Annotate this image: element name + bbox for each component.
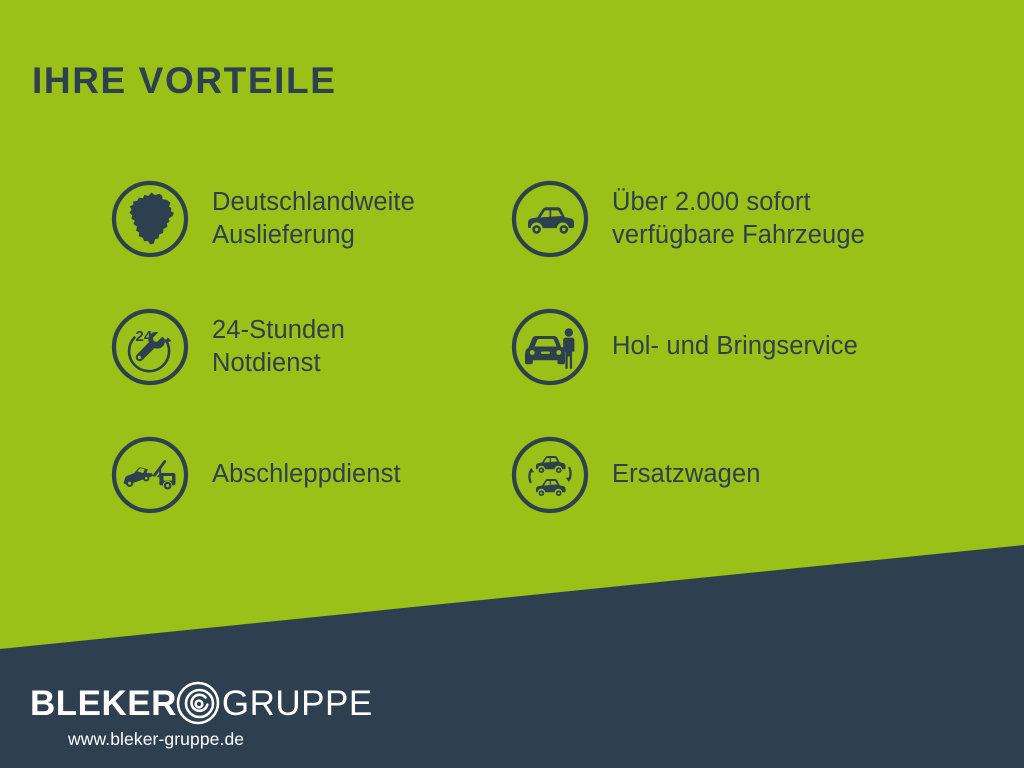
footer-logo: BLEKER GRUPPE www.bleker-gruppe.de — [30, 680, 373, 750]
benefit-item-24-stunden-notdienst: 24 24-Stunden Notdienst — [110, 283, 510, 411]
benefit-item-verfuegbare-fahrzeuge: Über 2.000 sofort verfügbare Fahrzeuge — [510, 155, 930, 283]
24h-wrench-icon: 24 — [110, 307, 190, 387]
slide-root: IHRE VORTEILE Deutschlandweite Ausliefer… — [0, 0, 1024, 768]
benefit-item-ersatzwagen: Ersatzwagen — [510, 411, 930, 539]
footer-website-url: www.bleker-gruppe.de — [68, 729, 373, 750]
benefit-label: Ersatzwagen — [612, 458, 761, 491]
page-title: IHRE VORTEILE — [32, 62, 337, 99]
tow-truck-icon — [110, 435, 190, 515]
two-cars-cycle-icon — [510, 435, 590, 515]
logo-row: BLEKER GRUPPE — [30, 680, 373, 726]
benefit-item-abschleppdienst: Abschleppdienst — [110, 411, 510, 539]
benefits-grid: Deutschlandweite Auslieferung Über 2.000… — [110, 155, 970, 539]
car-with-person-icon — [510, 307, 590, 387]
germany-map-icon — [110, 179, 190, 259]
car-side-icon — [510, 179, 590, 259]
benefit-label: Hol- und Bringservice — [612, 330, 858, 363]
spiral-circle-logo — [175, 680, 221, 726]
benefit-label: 24-Stunden Notdienst — [212, 314, 345, 380]
benefit-label: Über 2.000 sofort verfügbare Fahrzeuge — [612, 186, 865, 252]
benefit-item-hol-und-bringservice: Hol- und Bringservice — [510, 283, 930, 411]
benefit-label: Deutschlandweite Auslieferung — [212, 186, 415, 252]
logo-wordmark-gruppe: GRUPPE — [222, 686, 373, 721]
benefit-item-deutschlandweite-auslieferung: Deutschlandweite Auslieferung — [110, 155, 510, 283]
benefit-label: Abschleppdienst — [212, 458, 401, 491]
logo-wordmark-bleker: BLEKER — [30, 686, 177, 721]
